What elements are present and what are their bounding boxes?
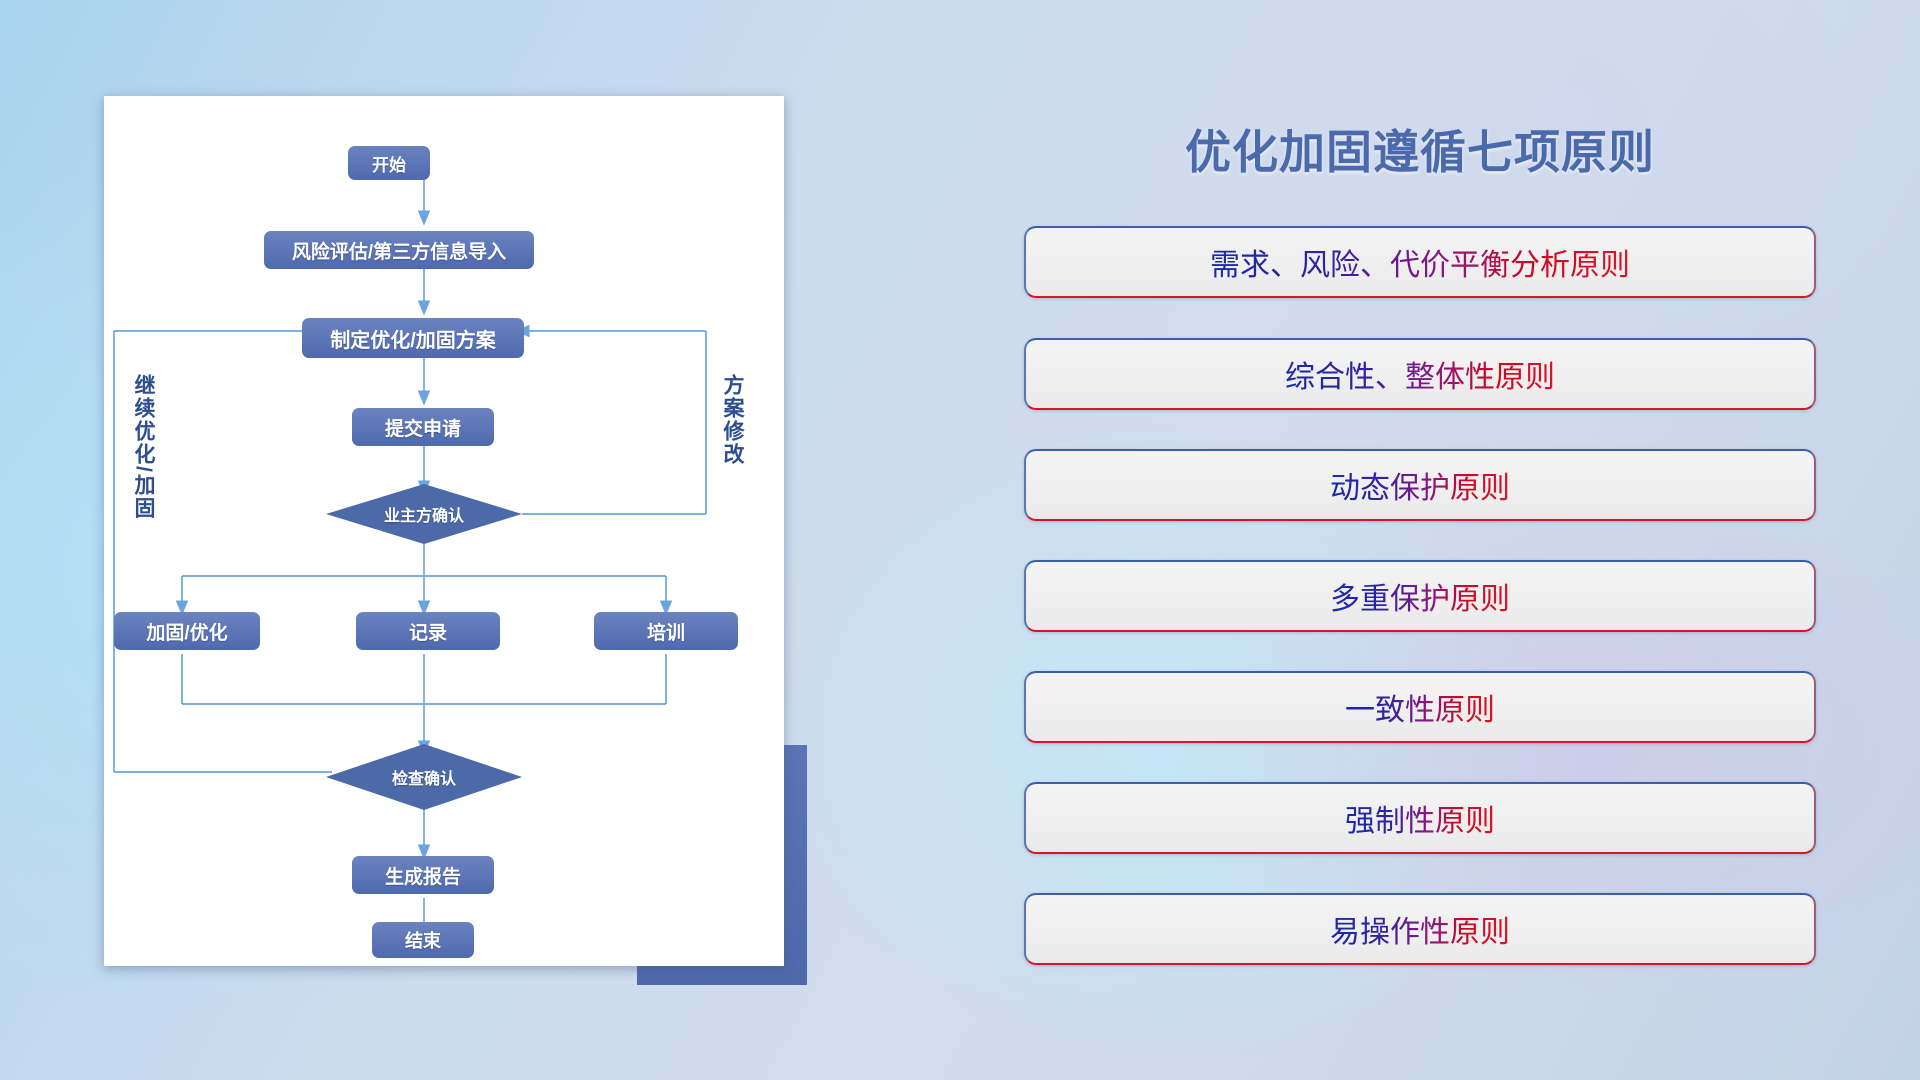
principle-item-1[interactable]: 需求、风险、代价平衡分析原则 bbox=[1024, 226, 1816, 298]
principle-item-4[interactable]: 多重保护原则 bbox=[1024, 560, 1816, 632]
principle-item-3[interactable]: 动态保护原则 bbox=[1024, 449, 1816, 521]
principle-label: 多重保护原则 bbox=[1330, 574, 1510, 618]
edge-label-continue-optimization: 继续优化/加固 bbox=[128, 374, 158, 520]
principle-item-7[interactable]: 易操作性原则 bbox=[1024, 893, 1816, 965]
principle-item-2[interactable]: 综合性、整体性原则 bbox=[1024, 338, 1816, 410]
flowchart-card: 开始 风险评估/第三方信息导入 制定优化/加固方案 提交申请 业主方确认 加固/… bbox=[104, 96, 784, 966]
principle-label: 动态保护原则 bbox=[1330, 463, 1510, 507]
principle-label: 强制性原则 bbox=[1345, 796, 1495, 840]
principle-item-5[interactable]: 一致性原则 bbox=[1024, 671, 1816, 743]
principle-item-6[interactable]: 强制性原则 bbox=[1024, 782, 1816, 854]
flow-node-record[interactable]: 记录 bbox=[356, 612, 500, 650]
flow-node-submit-application[interactable]: 提交申请 bbox=[352, 408, 494, 446]
edge-label-plan-revision: 方案修改 bbox=[717, 374, 747, 466]
flow-node-start[interactable]: 开始 bbox=[348, 146, 430, 180]
principle-label: 易操作性原则 bbox=[1330, 907, 1510, 951]
flow-node-plan[interactable]: 制定优化/加固方案 bbox=[302, 318, 524, 358]
principles-panel: 优化加固遵循七项原则 需求、风险、代价平衡分析原则 综合性、整体性原则 动态保护… bbox=[1000, 96, 1840, 996]
flow-node-reinforce[interactable]: 加固/优化 bbox=[114, 612, 260, 650]
principle-label: 综合性、整体性原则 bbox=[1285, 352, 1555, 396]
principle-label: 一致性原则 bbox=[1345, 685, 1495, 729]
panel-title: 优化加固遵循七项原则 bbox=[1000, 116, 1840, 182]
flow-node-training[interactable]: 培训 bbox=[594, 612, 738, 650]
flow-node-risk-assessment[interactable]: 风险评估/第三方信息导入 bbox=[264, 231, 534, 269]
flow-node-end[interactable]: 结束 bbox=[372, 922, 474, 958]
principle-label: 需求、风险、代价平衡分析原则 bbox=[1210, 240, 1630, 284]
flow-node-generate-report[interactable]: 生成报告 bbox=[352, 856, 494, 894]
